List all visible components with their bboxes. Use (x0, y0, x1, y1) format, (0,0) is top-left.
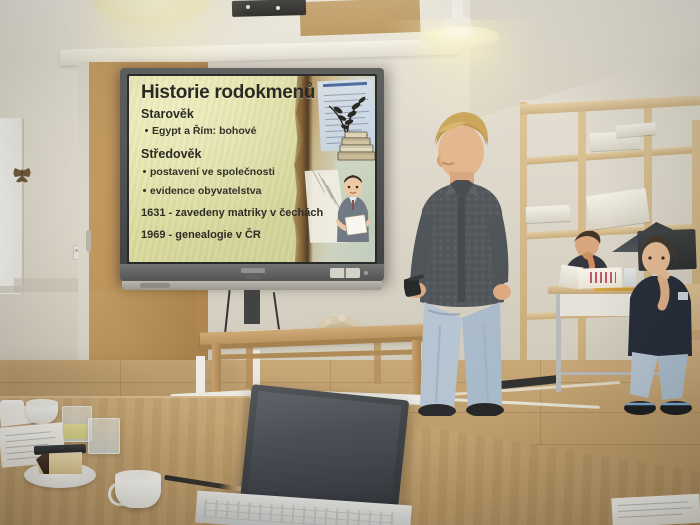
cartoon-man-illustration (329, 170, 375, 242)
display-ir-sensor (245, 275, 261, 279)
slide-bullet-2-text: postavení ve společnosti (150, 166, 275, 178)
presentation-slide: Historie rodokmenů Starověk Egypt a Řím:… (129, 76, 375, 262)
display-mount-label (140, 283, 170, 288)
pendant-lamp-right (418, 26, 500, 48)
display-stand-column (244, 290, 260, 324)
cup-rim (115, 470, 161, 481)
juice-liquid (64, 424, 88, 439)
display-brand-logo (241, 268, 265, 273)
printed-sheet (611, 494, 700, 525)
seated-girl (618, 232, 698, 422)
slide-heading-2: Středověk (141, 148, 201, 161)
slide-bullet-1: Egypt a Řím: bohové (145, 126, 256, 137)
classroom-presentation-photo: Historie rodokmenů Starověk Egypt a Řím:… (0, 0, 700, 525)
glass-of-water (88, 418, 120, 454)
slide-timeline-1: 1631 - zavedeny matriky v čechách (141, 208, 323, 219)
butterfly-icon (12, 168, 32, 184)
slide-heading-1: Starověk (141, 108, 194, 121)
slide-title: Historie rodokmenů (141, 83, 331, 102)
stack-of-books-icon (337, 130, 375, 164)
slide-timeline-2: 1969 - genealogie v ČR (141, 230, 261, 241)
door-handle[interactable] (86, 230, 91, 252)
display-power-led-icon (364, 271, 368, 275)
slide-bullet-1-text: Egypt a Řím: bohové (152, 125, 256, 137)
projector-led-icon (276, 6, 280, 10)
slide-bullet-2: postavení ve společnosti (143, 167, 275, 178)
slide-bullet-3-text: evidence obyvatelstva (150, 185, 261, 197)
embroidery-pattern (590, 272, 616, 283)
wall-mark (14, 278, 82, 292)
presenting-student (404, 106, 514, 416)
slide-bullet-3: evidence obyvatelstva (143, 186, 261, 197)
whiteboard (0, 118, 24, 294)
paper-stack (526, 205, 571, 223)
display-button-divider (344, 268, 346, 278)
cup-rim (26, 399, 58, 407)
